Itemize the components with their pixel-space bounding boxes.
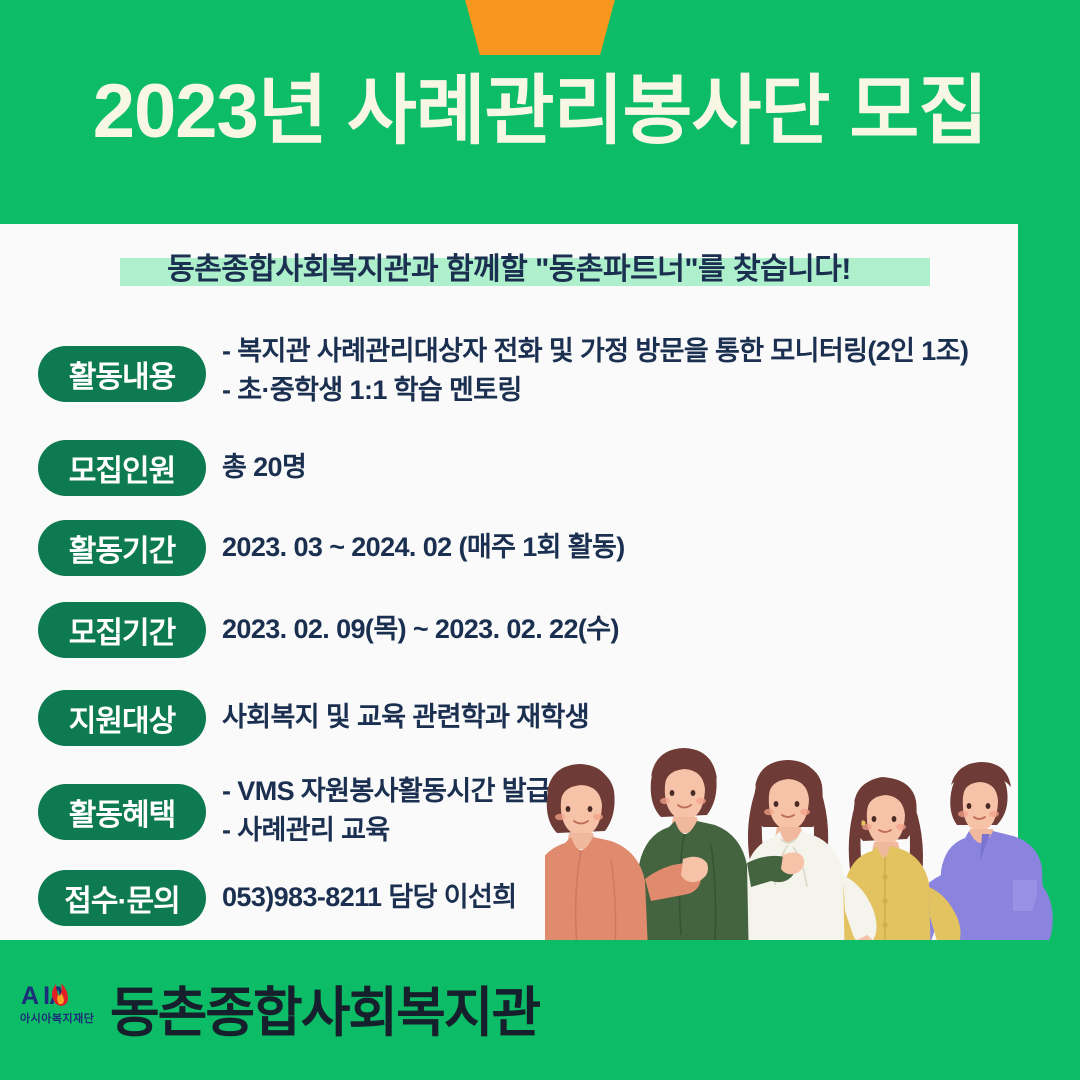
page-title: 2023년 사례관리봉사단 모집 [0, 72, 1080, 152]
row-label-badge: 접수·문의 [38, 870, 206, 926]
info-row: 활동내용 - 복지관 사례관리대상자 전화 및 가정 방문을 통한 모니터링(2… [0, 330, 1018, 432]
row-content-line: 사회복지 및 교육 관련학과 재학생 [222, 698, 1018, 737]
row-content: 2023. 03 ~ 2024. 02 (매주 1회 활동) [222, 514, 1018, 567]
asia-foundation-logo: A IA 아시아복지재단 [18, 978, 110, 1028]
row-content: 2023. 02. 09(목) ~ 2023. 02. 22(수) [222, 596, 1018, 649]
row-label-badge: 활동혜택 [38, 784, 206, 840]
orange-tab-decoration [463, 0, 617, 55]
svg-text:아시아복지재단: 아시아복지재단 [20, 1011, 94, 1025]
row-label-badge: 지원대상 [38, 690, 206, 746]
row-content: - 복지관 사례관리대상자 전화 및 가정 방문을 통한 모니터링(2인 1조)… [222, 330, 1018, 410]
row-content-line: 2023. 02. 09(목) ~ 2023. 02. 22(수) [222, 610, 1018, 649]
poster-root: 2023년 사례관리봉사단 모집 동촌종합사회복지관과 함께할 "동촌파트너"를… [0, 0, 1080, 1080]
row-content: 총 20명 [222, 432, 1018, 487]
row-content-line: 총 20명 [222, 448, 1018, 487]
row-label-badge: 모집인원 [38, 440, 206, 496]
row-content-line: - 초·중학생 1:1 학습 멘토링 [222, 371, 1018, 410]
row-label-badge: 모집기간 [38, 602, 206, 658]
info-row: 활동기간 2023. 03 ~ 2024. 02 (매주 1회 활동) [0, 514, 1018, 596]
row-content-line: 2023. 03 ~ 2024. 02 (매주 1회 활동) [222, 528, 1018, 567]
row-label-badge: 활동내용 [38, 346, 206, 402]
subtitle: 동촌종합사회복지관과 함께할 "동촌파트너"를 찾습니다! [0, 244, 1018, 288]
row-label-badge: 활동기간 [38, 520, 206, 576]
row-content-line: - 복지관 사례관리대상자 전화 및 가정 방문을 통한 모니터링(2인 1조) [222, 332, 1018, 371]
organization-name: 동촌종합사회복지관 [110, 968, 539, 1047]
info-row: 모집기간 2023. 02. 09(목) ~ 2023. 02. 22(수) [0, 596, 1018, 678]
row-content: 사회복지 및 교육 관련학과 재학생 [222, 678, 1018, 737]
info-row: 모집인원 총 20명 [0, 432, 1018, 514]
